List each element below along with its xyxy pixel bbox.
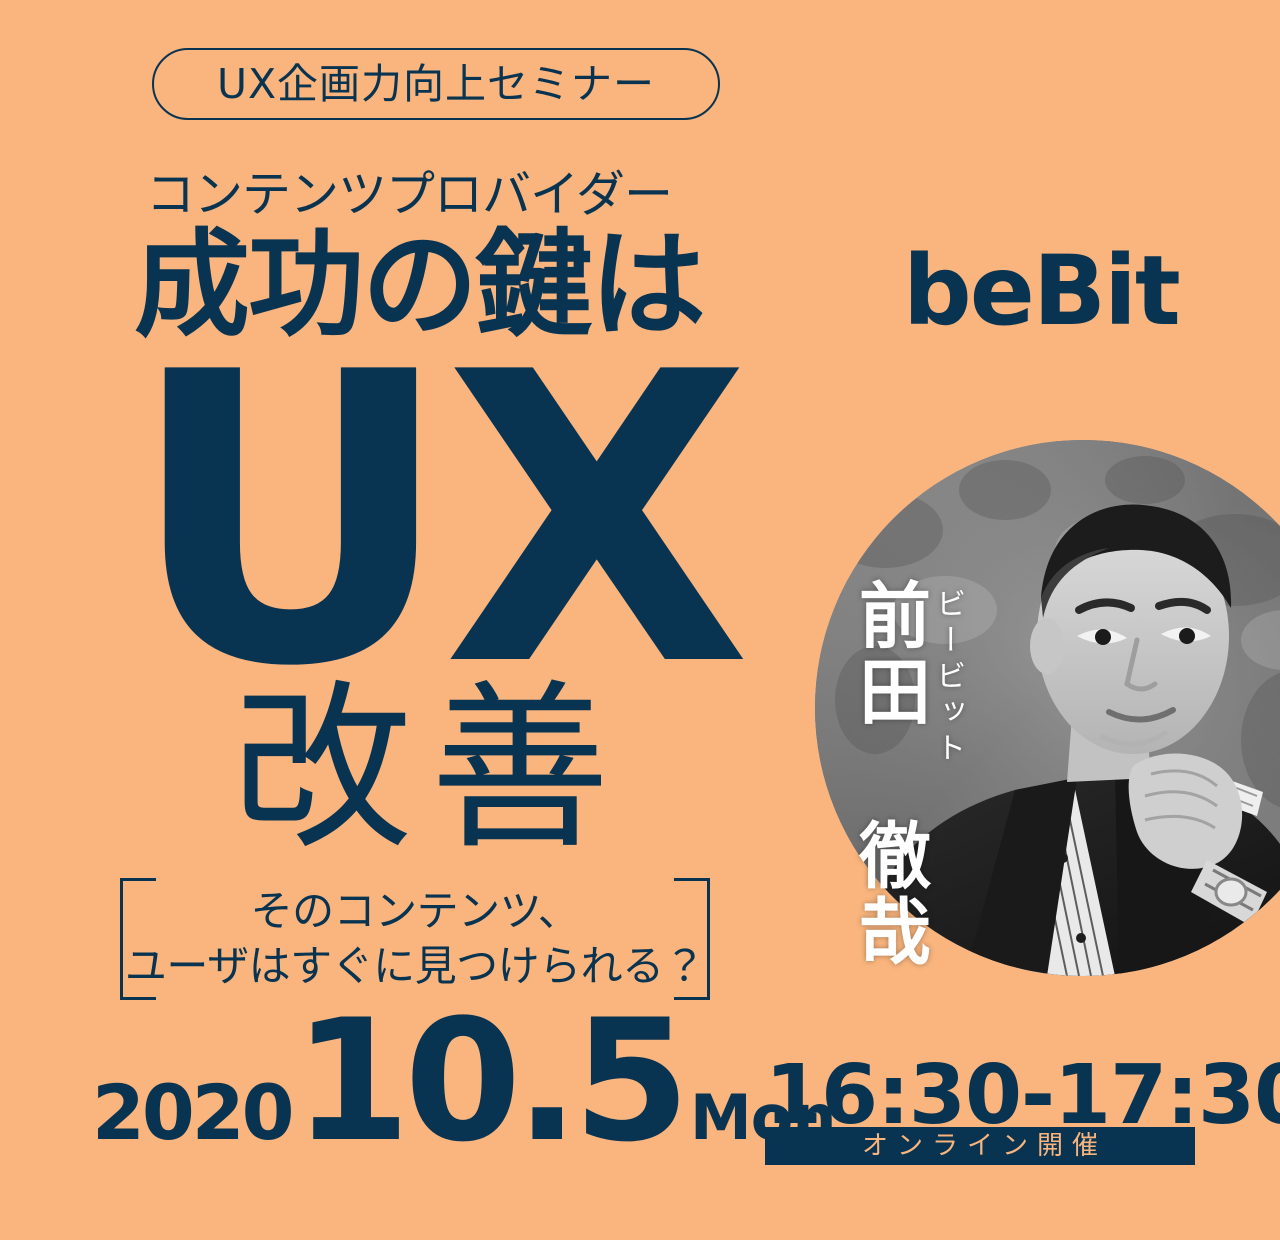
subtitle-block: そのコンテンツ、 ユーザはすぐに見つけられる？ (120, 878, 710, 1000)
event-date: 2020 10.5 Mon (92, 997, 835, 1165)
event-format-band: オンライン開催 (765, 1127, 1195, 1165)
headline-kicker: コンテンツプロバイダー (146, 170, 672, 219)
headline-ux: UX (128, 322, 741, 722)
seminar-badge-label: UX企画力向上セミナー (217, 64, 655, 105)
speaker-name: 前田 徹哉 (853, 578, 924, 970)
event-day: 10.5 (294, 997, 685, 1165)
subtitle-line-1: そのコンテンツ、 (120, 884, 710, 939)
seminar-badge: UX企画力向上セミナー (152, 48, 720, 120)
subtitle-text: そのコンテンツ、 ユーザはすぐに見つけられる？ (120, 884, 710, 995)
bebit-logo: beBit (903, 243, 1179, 339)
headline-line3: 改善 (232, 680, 628, 860)
event-year: 2020 (92, 1075, 292, 1151)
speaker-company: ビービット (925, 588, 969, 768)
seminar-banner: UX企画力向上セミナー コンテンツプロバイダー 成功の鍵は UX 改善 そのコン… (0, 0, 1280, 1240)
event-format-label: オンライン開催 (853, 1133, 1107, 1159)
event-time: 16:30-17:30 (765, 1055, 1280, 1137)
